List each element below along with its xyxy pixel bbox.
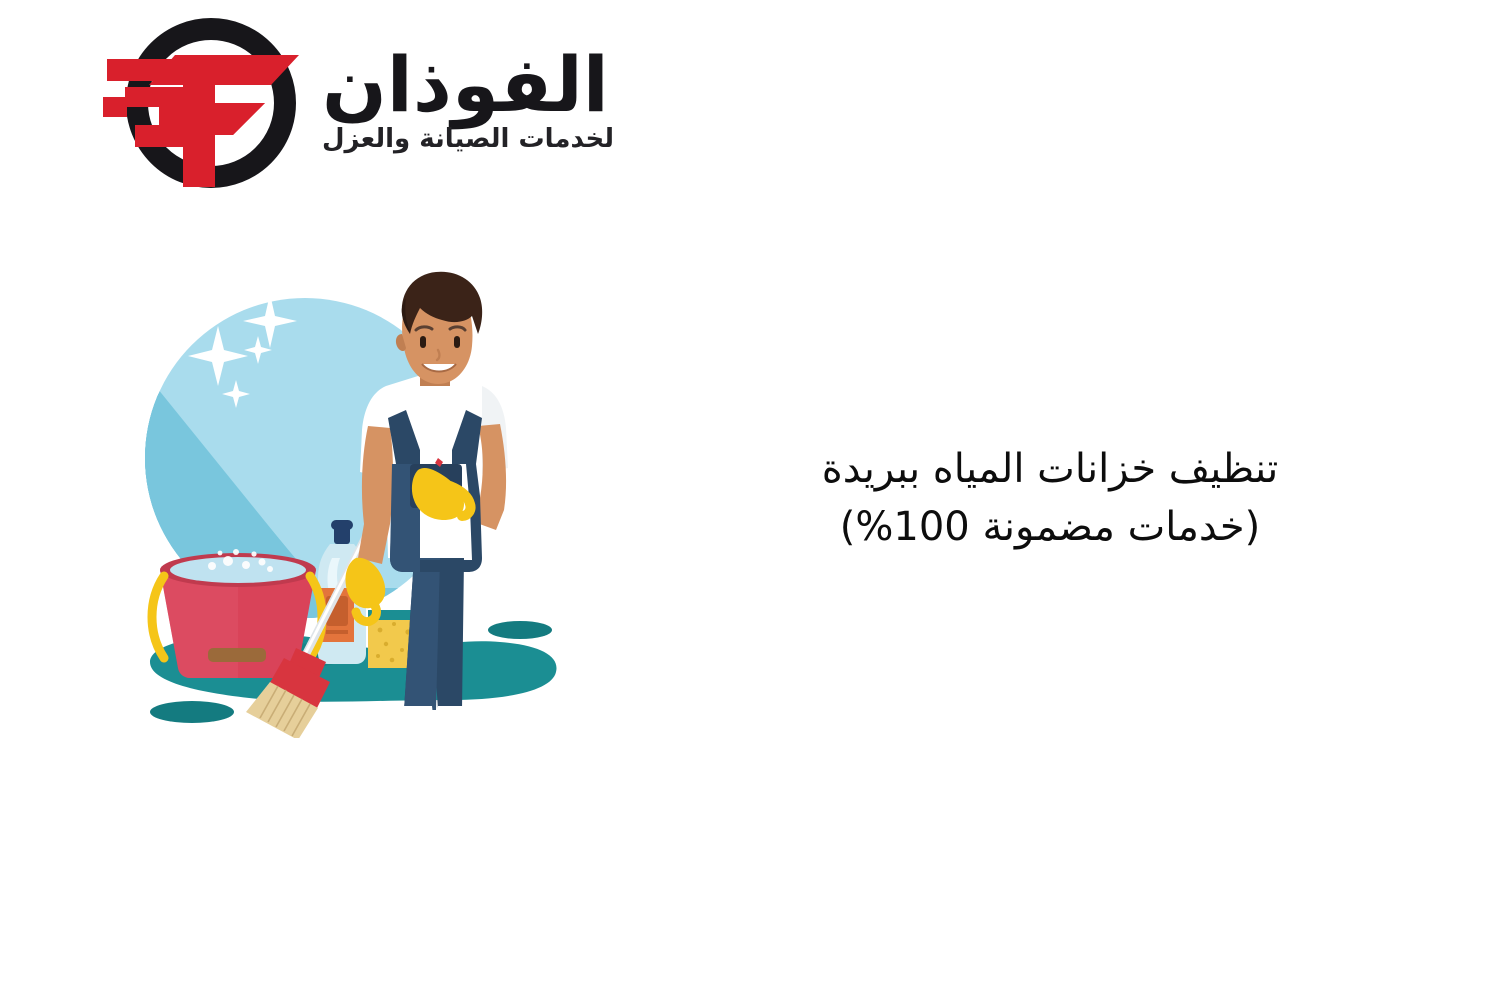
brand-name: الفوذان [322, 49, 609, 121]
shoe-right [434, 706, 474, 730]
brand-tagline: لخدمات الصيانة والعزل [322, 125, 614, 155]
floor-puddle-left [150, 701, 234, 723]
page-title: تنظيف خزانات المياه ببريدة (خدمات مضمونة… [700, 440, 1400, 556]
page-title-line-1: تنظيف خزانات المياه ببريدة [700, 440, 1400, 498]
site-logo[interactable]: الفوذان لخدمات الصيانة والعزل [14, 10, 614, 200]
cleaning-worker-illustration [120, 258, 580, 738]
logo-wordmark: الفوذان لخدمات الصيانة والعزل [322, 49, 614, 161]
stylized-f-in-circle-icon [103, 15, 308, 195]
page-title-line-2: (خدمات مضمونة 100%) [700, 498, 1400, 556]
floor-puddle-right [488, 621, 552, 639]
shoe-left [392, 706, 434, 730]
